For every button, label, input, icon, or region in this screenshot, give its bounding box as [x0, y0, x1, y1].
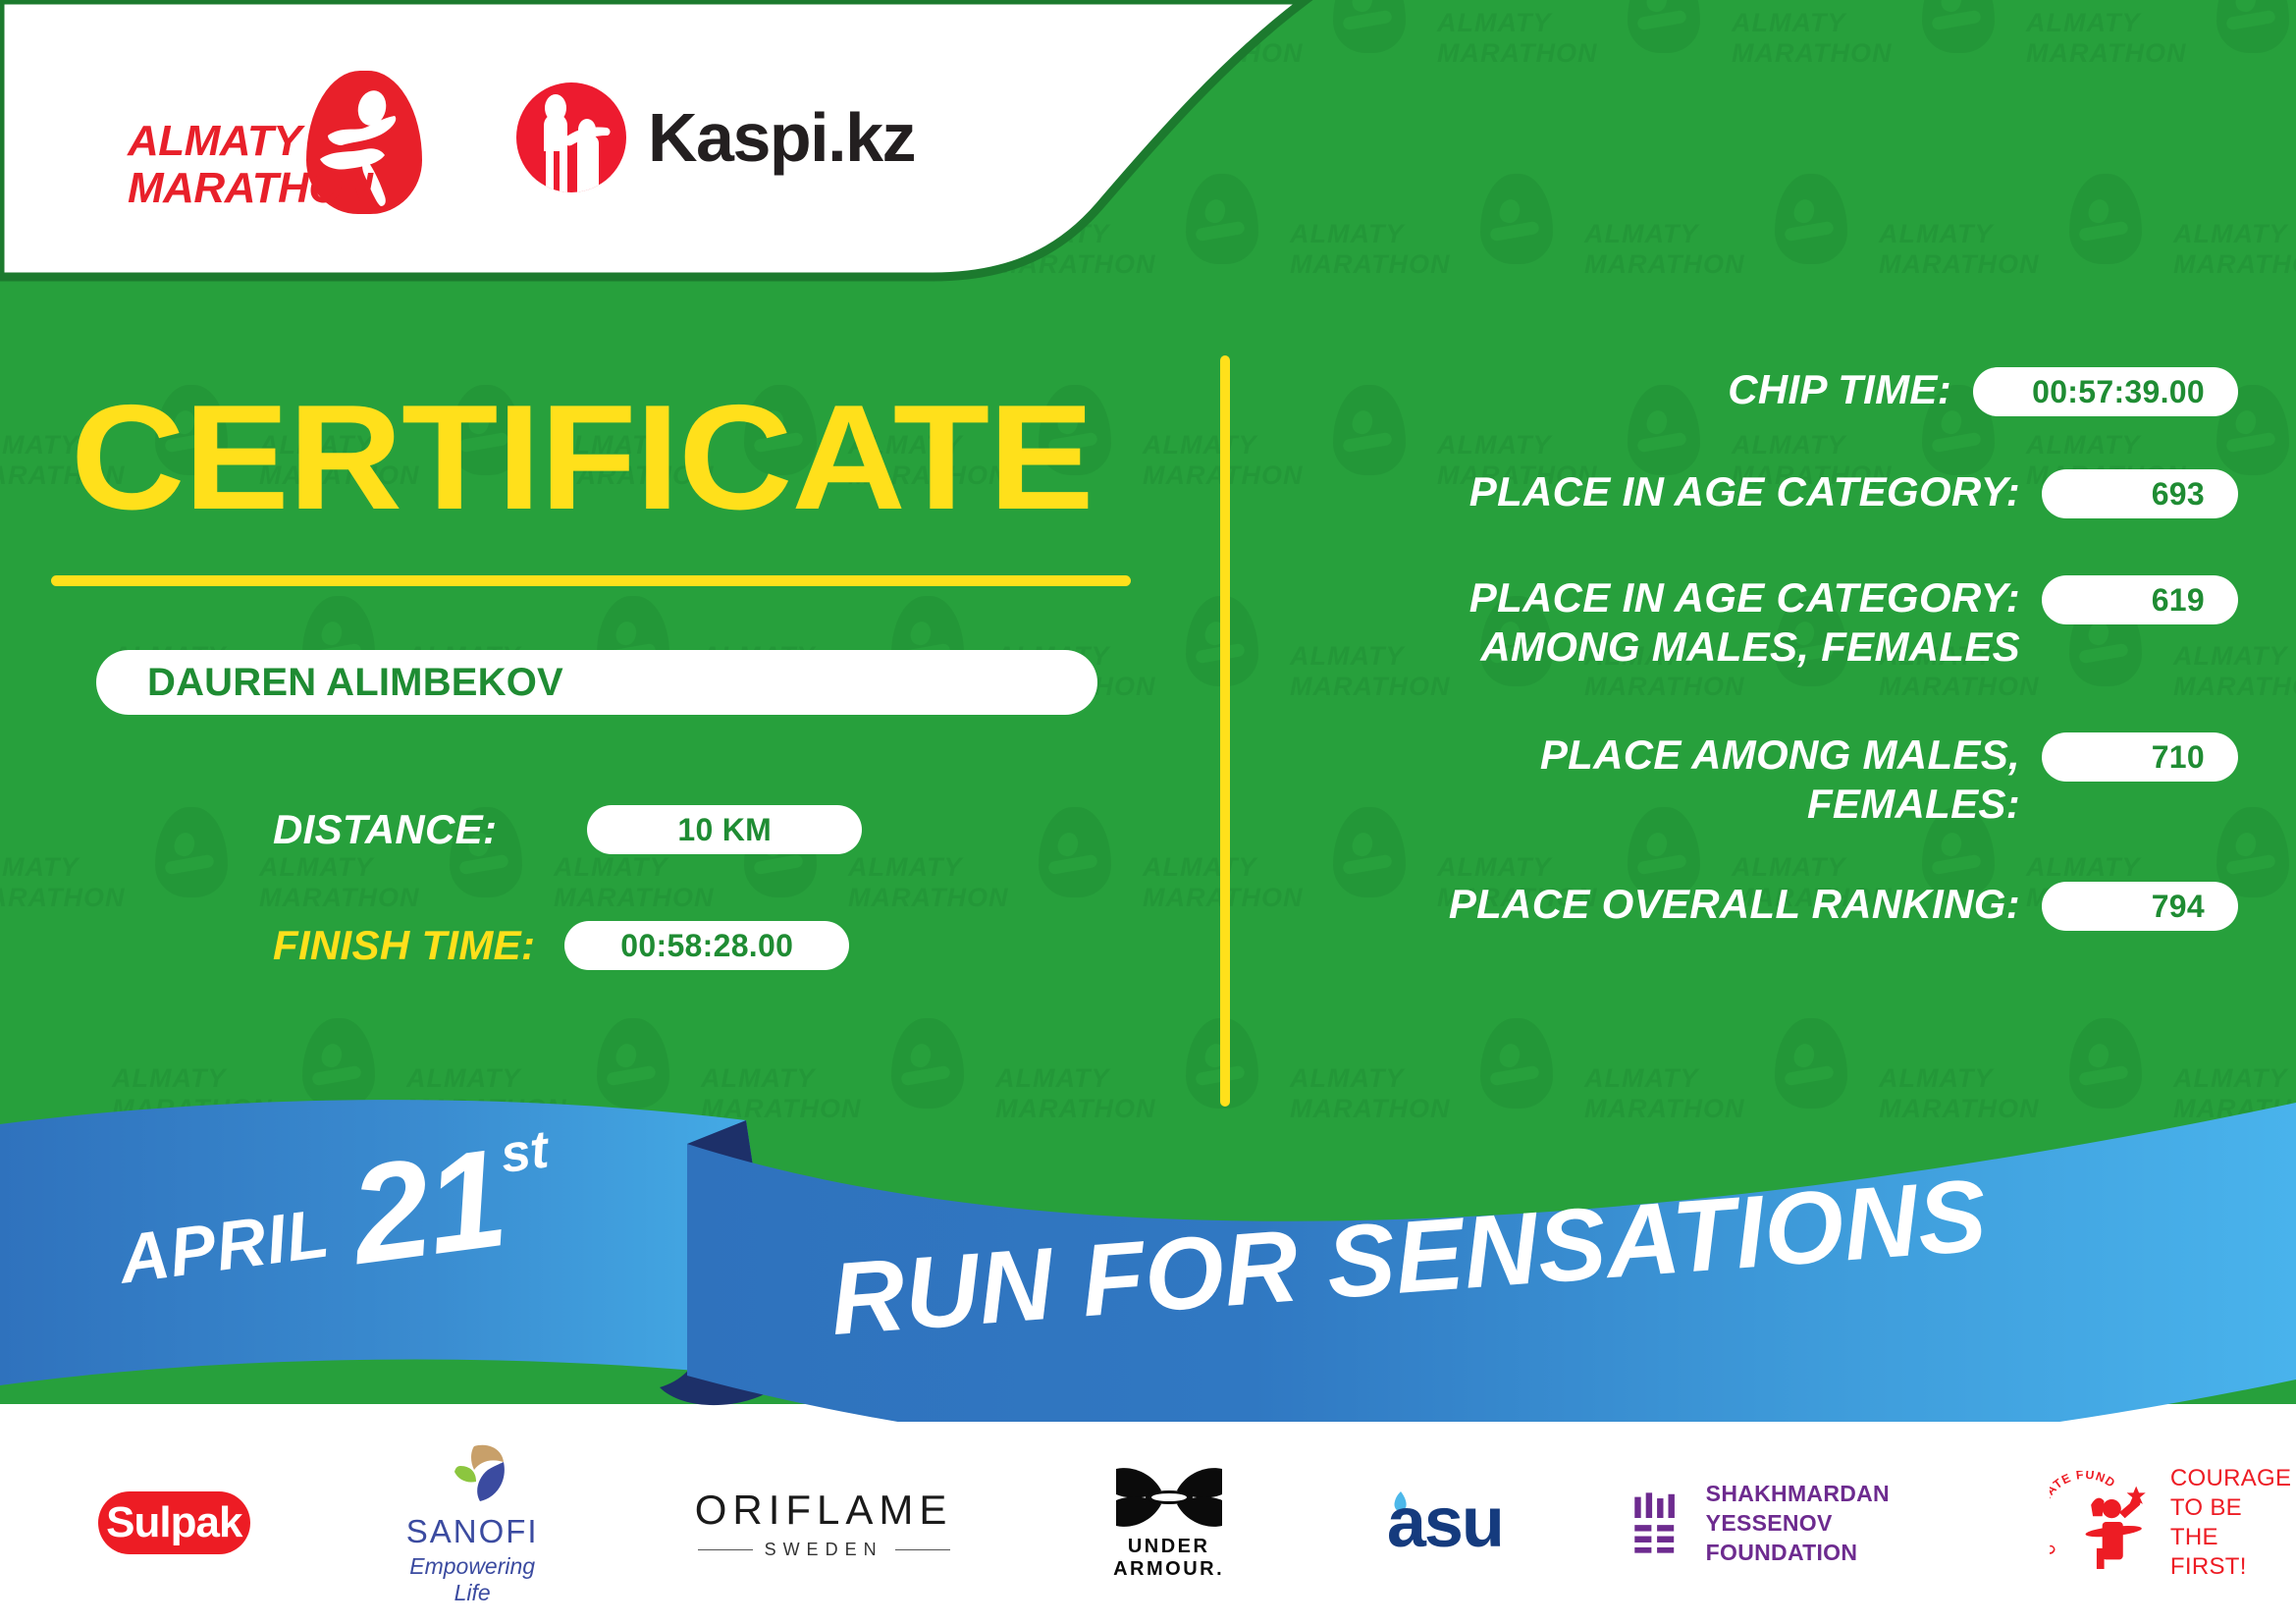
place-age-category-gender-value-pill: 619: [2042, 575, 2238, 624]
sponsor-sanofi: SANOFI Empowering Life: [398, 1440, 548, 1606]
page-title: CERTIFICATE: [71, 383, 1094, 532]
watermark-tile: ALMATYMARATHON: [2022, 0, 2296, 172]
watermark-text: ALMATYMARATHON: [0, 852, 125, 913]
watermark-drop-icon: [1480, 174, 1553, 264]
courage-wordmark: COURAGE TO BE THE FIRST!: [2170, 1464, 2296, 1582]
yessenov-line2: FOUNDATION: [1706, 1538, 1932, 1567]
sanofi-wordmark: SANOFI: [398, 1513, 548, 1550]
distance-value: 10 KM: [677, 812, 772, 848]
place-among-gender-label-line1: PLACE AMONG MALES,: [1256, 731, 2020, 780]
place-among-gender-value: 710: [2152, 739, 2205, 776]
stat-row-place-age-category: PLACE IN AGE CATEGORY: 693: [1256, 467, 2238, 518]
place-overall-value: 794: [2152, 889, 2205, 925]
finish-time-value-pill: 00:58:28.00: [564, 921, 849, 970]
place-age-category-gender-value: 619: [2152, 582, 2205, 619]
sulpak-wordmark: Sulpak: [106, 1498, 241, 1547]
watermark-drop-icon: [1039, 807, 1111, 897]
results-panel: CHIP TIME: 00:57:39.00 PLACE IN AGE CATE…: [1256, 365, 2238, 964]
place-among-gender-label-line2: FEMALES:: [1256, 780, 2020, 829]
stat-row-place-among-gender: PLACE AMONG MALES, FEMALES: 710: [1256, 731, 2238, 829]
sponsor-sulpak: Sulpak: [98, 1491, 250, 1554]
watermark-text: ALMATYMARATHON: [1732, 8, 1892, 69]
under-armour-wordmark: UNDER ARMOUR.: [1090, 1536, 1247, 1581]
certificate-page: ALMATYMARATHONALMATYMARATHONALMATYMARATH…: [0, 0, 2296, 1624]
watermark-text: ALMATYMARATHON: [2026, 8, 2186, 69]
place-age-category-gender-label-line2: AMONG MALES, FEMALES: [1256, 623, 2020, 672]
finish-time-label: FINISH TIME:: [273, 922, 535, 969]
sanofi-bird-icon: [431, 1440, 513, 1509]
distance-value-pill: 10 KM: [587, 805, 862, 854]
watermark-drop-icon: [1775, 174, 1847, 264]
asu-wordmark: asu: [1387, 1483, 1503, 1563]
almaty-marathon-wordmark: ALMATY MARATHON: [128, 118, 372, 212]
courage-line1: COURAGE: [2170, 1464, 2296, 1493]
watermark-drop-icon: [1628, 0, 1700, 53]
stat-row-finish-time: FINISH TIME: 00:58:28.00: [273, 921, 849, 970]
finish-time-value: 00:58:28.00: [620, 928, 793, 964]
watermark-drop-icon: [1922, 0, 1995, 53]
watermark-text: ALMATYMARATHON: [1584, 219, 1744, 280]
stat-row-place-overall: PLACE OVERALL RANKING: 794: [1256, 880, 2238, 931]
chip-time-label: CHIP TIME:: [1256, 365, 1973, 414]
almaty-marathon-logo: ALMATY MARATHON: [128, 69, 422, 206]
watermark-tile: ALMATYMARATHON: [1580, 172, 1875, 383]
courage-line2: TO BE: [2170, 1493, 2296, 1523]
kaspi-people-icon: [516, 82, 626, 192]
yessenov-bars-icon: [1630, 1481, 1682, 1565]
watermark-text: ALMATYMARATHON: [2173, 219, 2296, 280]
stat-row-place-age-category-gender: PLACE IN AGE CATEGORY: AMONG MALES, FEMA…: [1256, 573, 2238, 672]
watermark-drop-icon: [2216, 0, 2289, 53]
stat-row-distance: DISTANCE: 10 KM: [273, 805, 862, 854]
watermark-drop-icon: [155, 807, 228, 897]
under-armour-icon: [1110, 1465, 1228, 1530]
sponsor-yessenov-foundation: SHAKHMARDAN YESSENOV FOUNDATION: [1630, 1479, 1932, 1567]
marathon-logo-line2: MARATHON: [128, 165, 372, 212]
distance-label: DISTANCE:: [273, 806, 497, 853]
place-age-category-label: PLACE IN AGE CATEGORY:: [1256, 467, 2042, 516]
place-age-category-value: 693: [2152, 476, 2205, 513]
place-among-gender-label: PLACE AMONG MALES, FEMALES:: [1256, 731, 2042, 829]
watermark-text: ALMATYMARATHON: [848, 852, 1008, 913]
sponsor-bar: Sulpak SANOFI Empowering Life ORIFLAME S…: [0, 1422, 2296, 1624]
watermark-tile: ALMATYMARATHON: [1875, 172, 2169, 383]
header-logos: ALMATY MARATHON Kasp: [0, 0, 1178, 275]
watermark-text: ALMATYMARATHON: [1879, 219, 2039, 280]
watermark-text: ALMATYMARATHON: [554, 852, 714, 913]
watermark-tile: ALMATYMARATHON: [1728, 0, 2022, 172]
watermark-text: ALMATYMARATHON: [1437, 8, 1597, 69]
watermark-tile: ALMATYMARATHON: [844, 805, 1139, 1016]
watermark-drop-icon: [2069, 174, 2142, 264]
event-day-suffix: st: [497, 1118, 552, 1185]
participant-name-value: DAUREN ALIMBEKOV: [147, 661, 563, 705]
watermark-text: ALMATYMARATHON: [259, 852, 419, 913]
vertical-divider: [1220, 355, 1230, 1107]
courage-line3: THE FIRST!: [2170, 1523, 2296, 1582]
place-overall-label: PLACE OVERALL RANKING:: [1256, 880, 2042, 929]
oriflame-wordmark: ORIFLAME: [695, 1487, 953, 1534]
sponsor-under-armour: UNDER ARMOUR.: [1090, 1465, 1247, 1581]
yessenov-line1: SHAKHMARDAN YESSENOV: [1706, 1479, 1932, 1538]
participant-name-field: DAUREN ALIMBEKOV: [96, 650, 1097, 715]
sponsor-asu: asu: [1385, 1483, 1503, 1563]
sanofi-tagline: Empowering Life: [398, 1553, 548, 1606]
watermark-tile: ALMATYMARATHON: [2169, 172, 2296, 383]
oriflame-subtitle: SWEDEN: [695, 1540, 953, 1560]
kaspi-logo: Kaspi.kz: [516, 82, 915, 192]
event-month: APRIL: [115, 1193, 335, 1298]
watermark-tile: ALMATYMARATHON: [1433, 0, 1728, 172]
sponsor-corporate-fund: CORPORATE FUND COURAGE TO BE THE FIRST!: [2050, 1464, 2296, 1582]
watermark-tile: ALMATYMARATHON: [0, 805, 255, 1016]
corporate-fund-figure-icon: CORPORATE FUND: [2050, 1471, 2155, 1575]
event-day: 21: [345, 1133, 511, 1281]
kaspi-wordmark: Kaspi.kz: [648, 98, 915, 177]
title-underline: [51, 575, 1131, 586]
chip-time-value-pill: 00:57:39.00: [1973, 367, 2238, 416]
stat-row-chip-time: CHIP TIME: 00:57:39.00: [1256, 365, 2238, 416]
marathon-logo-line1: ALMATY: [128, 118, 372, 165]
place-age-category-gender-label-line1: PLACE IN AGE CATEGORY:: [1256, 573, 2020, 623]
sponsor-oriflame: ORIFLAME SWEDEN: [695, 1487, 953, 1560]
place-age-category-gender-label: PLACE IN AGE CATEGORY: AMONG MALES, FEMA…: [1256, 573, 2042, 672]
place-age-category-value-pill: 693: [2042, 469, 2238, 518]
place-overall-value-pill: 794: [2042, 882, 2238, 931]
place-among-gender-value-pill: 710: [2042, 732, 2238, 782]
header-band: ALMATY MARATHON Kasp: [0, 0, 1394, 295]
chip-time-value: 00:57:39.00: [2032, 374, 2205, 410]
yessenov-wordmark: SHAKHMARDAN YESSENOV FOUNDATION: [1706, 1479, 1932, 1567]
